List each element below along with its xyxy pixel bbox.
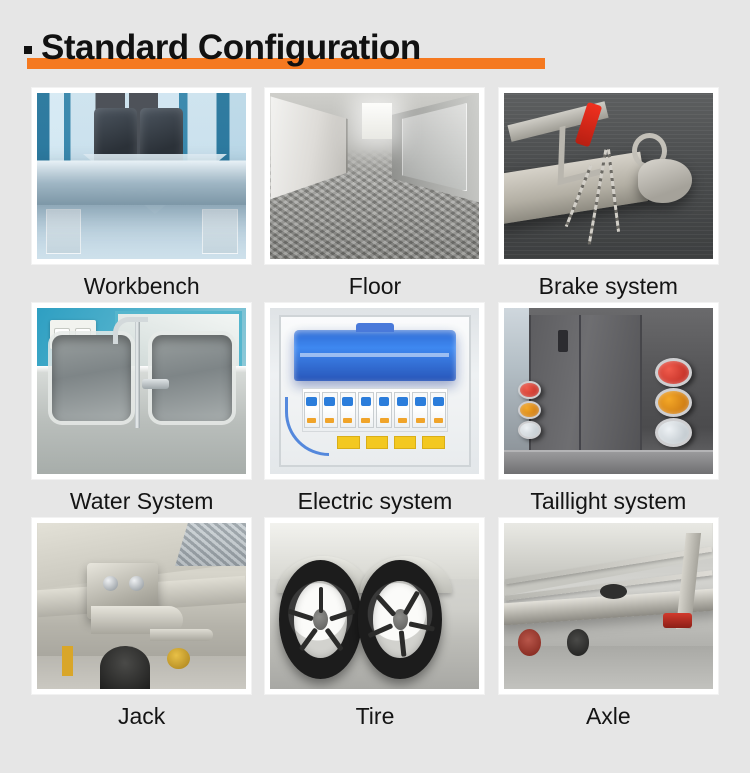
gallery-item-electric-system[interactable]: Electric system <box>258 303 491 518</box>
gallery-item-brake-system[interactable]: Brake system <box>492 88 725 303</box>
circuit-breaker <box>430 392 446 428</box>
window-light <box>362 103 391 140</box>
faucet-handle <box>142 379 169 389</box>
rim-spoke <box>324 628 343 652</box>
gallery-item-label: Workbench <box>84 271 200 301</box>
rim-spoke <box>399 631 407 657</box>
rim-spoke <box>403 591 420 616</box>
workbench-photo <box>37 93 246 259</box>
page-title-row: Standard Configuration <box>24 28 421 68</box>
jack-photo <box>37 523 246 689</box>
thumbnail-frame[interactable] <box>265 88 484 264</box>
gallery-item-label: Axle <box>586 701 631 731</box>
tire-front <box>279 560 363 680</box>
blue-wiring <box>285 397 329 457</box>
gallery-item-workbench[interactable]: Workbench <box>25 88 258 303</box>
wall-left <box>270 96 347 199</box>
hub-nut <box>167 648 190 670</box>
rim-spoke <box>329 609 355 622</box>
gallery-item-label: Floor <box>349 271 401 301</box>
gallery-item-label: Taillight system <box>530 486 686 516</box>
yellow-tag <box>394 436 416 449</box>
gallery-item-label: Water System <box>70 486 214 516</box>
rim-spoke <box>298 628 317 652</box>
thumbnail-frame[interactable] <box>499 88 718 264</box>
page-title: Standard Configuration <box>41 28 421 67</box>
square-bullet-icon <box>24 46 32 54</box>
gallery-item-axle[interactable]: Axle <box>492 518 725 733</box>
yellow-tag <box>422 436 444 449</box>
circuit-breaker <box>340 392 356 428</box>
circuit-breaker <box>412 392 428 428</box>
rear-door <box>529 315 642 458</box>
gallery-item-taillight-system[interactable]: Taillight system <box>492 303 725 518</box>
gallery-item-jack[interactable]: Jack <box>25 518 258 733</box>
coupler-body <box>638 159 692 202</box>
sink-basin-left <box>52 335 131 421</box>
thumbnail-frame[interactable] <box>265 303 484 479</box>
lower-skirt <box>504 450 713 474</box>
red-component <box>663 613 692 628</box>
faucet <box>135 321 140 427</box>
gallery-item-label: Jack <box>118 701 165 731</box>
tire-rear <box>358 560 442 680</box>
taillight-system-photo <box>504 308 713 474</box>
wheel-rim <box>373 581 427 657</box>
thumbnail-frame[interactable] <box>32 88 251 264</box>
circuit-breaker <box>358 392 374 428</box>
tire-photo <box>270 523 479 689</box>
thumbnail-frame[interactable] <box>32 518 251 694</box>
circuit-breaker <box>394 392 410 428</box>
gallery-item-label: Tire <box>356 701 395 731</box>
sink-basin-right <box>152 335 231 421</box>
taillight-amber <box>655 388 692 417</box>
door-latch <box>558 330 568 352</box>
axle-photo <box>504 523 713 689</box>
rim-spoke <box>368 623 394 638</box>
wheel <box>100 646 150 689</box>
thumbnail-frame[interactable] <box>32 303 251 479</box>
cabinet-left <box>46 209 81 254</box>
yellow-tag <box>366 436 388 449</box>
rim-spoke <box>408 621 434 631</box>
panel-enclosure <box>279 315 471 468</box>
blue-cover <box>294 330 456 381</box>
gallery-item-label: Electric system <box>298 486 453 516</box>
gallery-item-label: Brake system <box>539 271 678 301</box>
gallery-item-tire[interactable]: Tire <box>258 518 491 733</box>
yellow-tag <box>337 436 359 449</box>
gallery-item-floor[interactable]: Floor <box>258 88 491 303</box>
thumbnail-frame[interactable] <box>265 518 484 694</box>
rim-spoke <box>375 594 396 617</box>
water-system-photo <box>37 308 246 474</box>
rim-spoke <box>319 587 324 613</box>
background-wheel <box>567 629 590 656</box>
taillight-red <box>655 358 692 387</box>
thumbnail-frame[interactable] <box>499 518 718 694</box>
rim-spoke <box>287 609 313 622</box>
jack-foot-pad <box>150 629 213 641</box>
circuit-breaker <box>376 392 392 428</box>
electric-system-photo <box>270 308 479 474</box>
floor-photo <box>270 93 479 259</box>
wheel-rim <box>294 581 348 657</box>
cabinet-right <box>202 209 237 254</box>
brake-system-photo <box>504 93 713 259</box>
yellow-post <box>62 646 72 676</box>
configuration-gallery: Workbench Floor <box>25 88 725 733</box>
standard-configuration-page: Standard Configuration Workbench <box>0 0 750 773</box>
gallery-item-water-system[interactable]: Water System <box>25 303 258 518</box>
thumbnail-frame[interactable] <box>499 303 718 479</box>
page-header: Standard Configuration <box>24 28 421 76</box>
breaker-label-tags <box>337 436 444 449</box>
taillight-white <box>655 418 692 447</box>
